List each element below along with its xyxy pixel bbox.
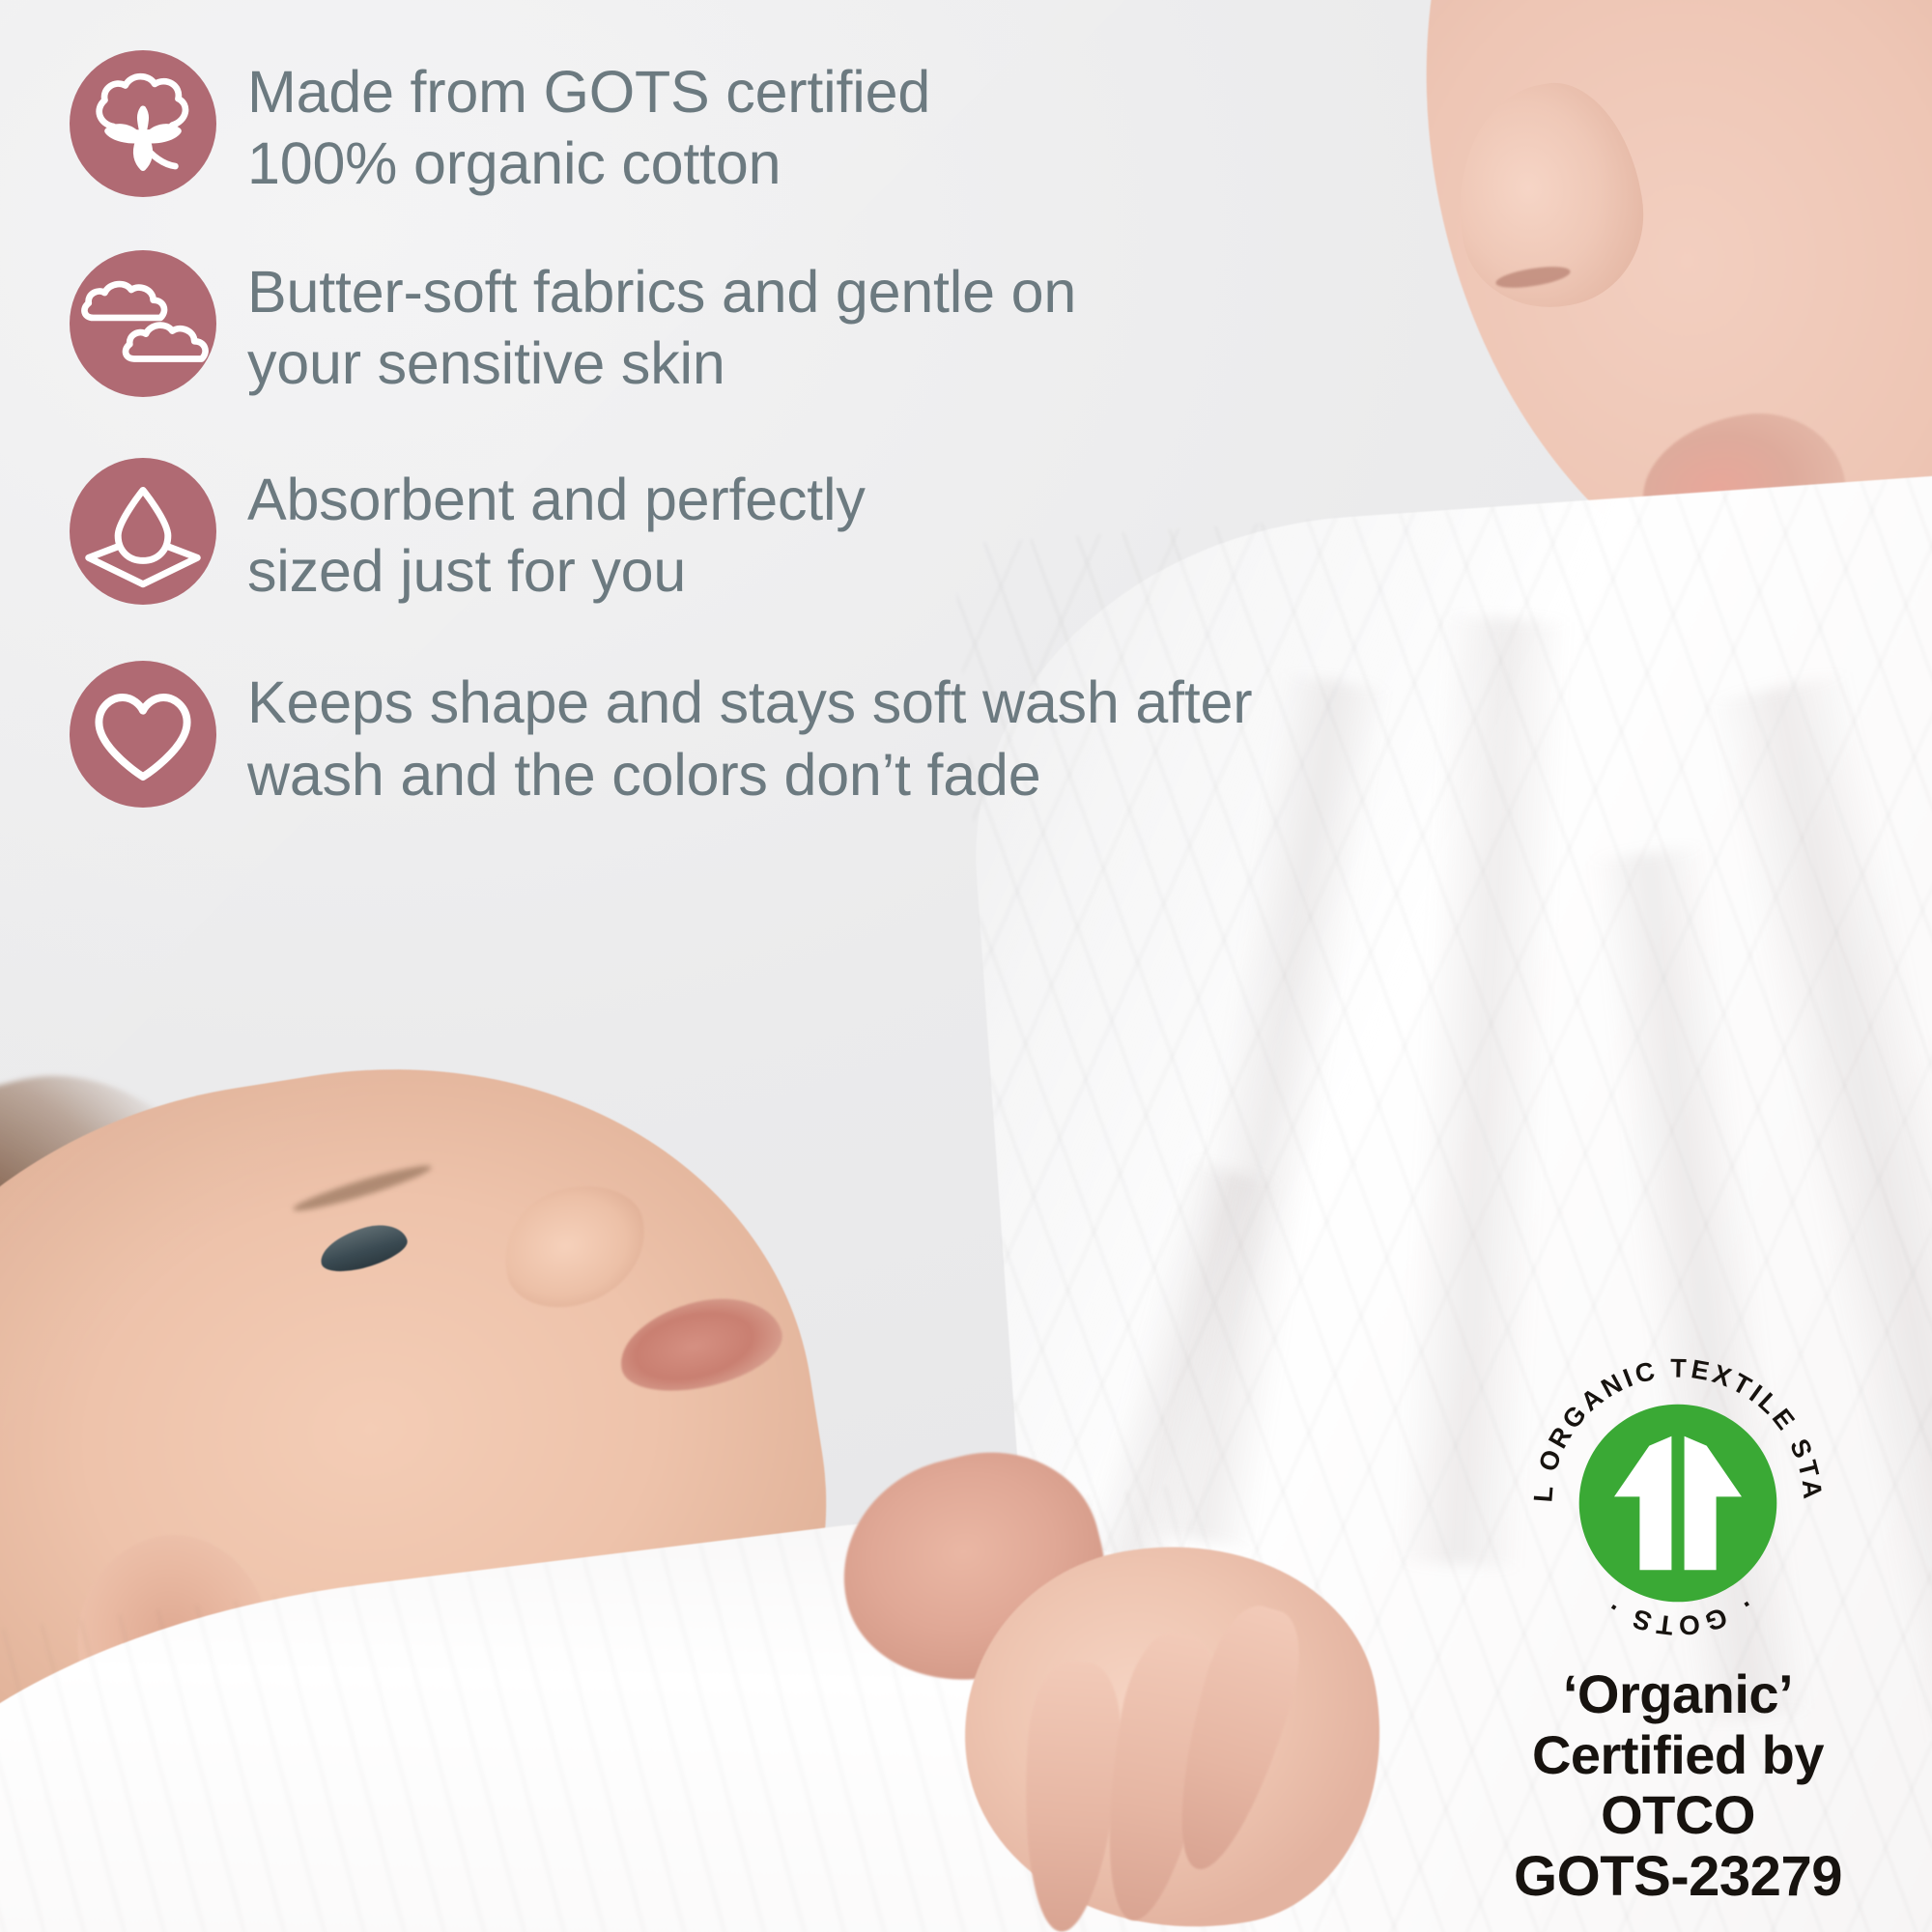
gots-license-number: GOTS-23279 [1451,1846,1905,1909]
heart-icon [70,661,216,808]
product-feature-graphic: Made from GOTS certified 100% organic co… [0,0,1932,1932]
feature-text: Absorbent and perfectly sized just for y… [247,464,866,608]
gots-certified-by: Certified by OTCO [1451,1725,1905,1846]
feature-icon-badge [70,250,216,397]
cotton-boll-icon [70,50,216,197]
feature-icon-badge [70,50,216,197]
feature-text: Made from GOTS certified 100% organic co… [247,56,930,200]
feature-icon-badge [70,458,216,605]
feature-list: Made from GOTS certified 100% organic co… [70,50,1403,857]
feature-item: Keeps shape and stays soft wash after wa… [70,661,1403,810]
clouds-icon [70,250,216,397]
feature-item: Made from GOTS certified 100% organic co… [70,50,1403,200]
gots-green-disc [1579,1405,1777,1603]
feature-text: Keeps shape and stays soft wash after wa… [247,667,1252,810]
gots-organic-label: ‘Organic’ [1451,1664,1905,1725]
feature-icon-badge [70,661,216,808]
feature-item: Absorbent and perfectly sized just for y… [70,458,1403,608]
water-droplet-on-surface-icon [70,458,216,605]
feature-item: Butter-soft fabrics and gentle on your s… [70,250,1403,400]
gots-certification-seal-icon: GLOBAL ORGANIC TEXTILE STANDARD · GOTS · [1519,1344,1837,1662]
gots-seal: GLOBAL ORGANIC TEXTILE STANDARD · GOTS · [1519,1344,1837,1662]
gots-certification-block: GLOBAL ORGANIC TEXTILE STANDARD · GOTS ·… [1451,1344,1905,1909]
gots-caption: ‘Organic’ Certified by OTCO GOTS-23279 [1451,1664,1905,1909]
feature-text: Butter-soft fabrics and gentle on your s… [247,256,1076,400]
